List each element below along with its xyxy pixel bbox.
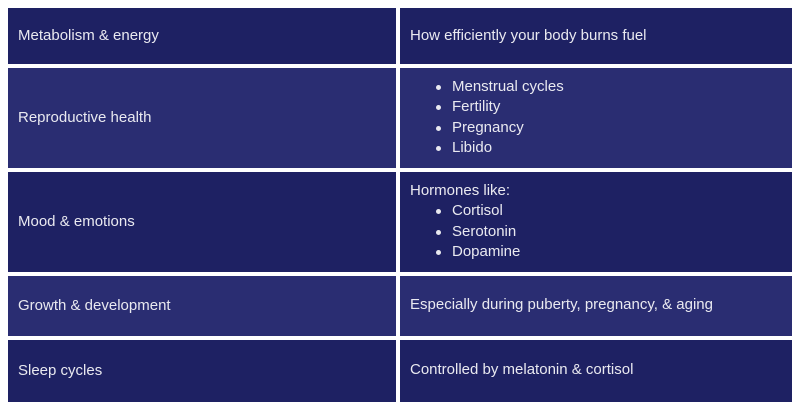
- info-table: Metabolism & energy How efficiently your…: [8, 8, 792, 402]
- row-description-cell: Hormones like: Cortisol Serotonin Dopami…: [400, 172, 792, 276]
- row-category-label: Sleep cycles: [18, 361, 384, 381]
- row-category-cell: Metabolism & energy: [8, 8, 400, 68]
- row-description-cell: How efficiently your body burns fuel: [400, 8, 792, 68]
- row-description-lead: How efficiently your body burns fuel: [410, 26, 780, 46]
- table-row: Mood & emotions Hormones like: Cortisol …: [8, 172, 792, 276]
- table-row: Growth & development Especially during p…: [8, 276, 792, 340]
- row-category-cell: Mood & emotions: [8, 172, 400, 276]
- row-description-cell: Especially during puberty, pregnancy, & …: [400, 276, 792, 340]
- description-bullet-list: Cortisol Serotonin Dopamine: [410, 201, 780, 262]
- row-category-label: Growth & development: [18, 296, 384, 316]
- row-description-lead: Hormones like:: [410, 181, 780, 201]
- row-category-label: Mood & emotions: [18, 212, 384, 232]
- table-row: Sleep cycles Controlled by melatonin & c…: [8, 340, 792, 402]
- row-category-label: Reproductive health: [18, 108, 384, 128]
- table-body: Metabolism & energy How efficiently your…: [8, 8, 792, 402]
- list-item: Menstrual cycles: [436, 77, 780, 97]
- list-item: Dopamine: [436, 242, 780, 262]
- list-item: Cortisol: [436, 201, 780, 221]
- list-item: Fertility: [436, 97, 780, 117]
- table-row: Metabolism & energy How efficiently your…: [8, 8, 792, 68]
- table-container: Metabolism & energy How efficiently your…: [0, 0, 800, 400]
- row-description-cell: Controlled by melatonin & cortisol: [400, 340, 792, 402]
- row-category-cell: Growth & development: [8, 276, 400, 340]
- list-item: Pregnancy: [436, 118, 780, 138]
- list-item: Serotonin: [436, 222, 780, 242]
- row-category-cell: Reproductive health: [8, 68, 400, 172]
- list-item: Libido: [436, 138, 780, 158]
- row-category-cell: Sleep cycles: [8, 340, 400, 402]
- table-row: Reproductive health Menstrual cycles Fer…: [8, 68, 792, 172]
- row-category-label: Metabolism & energy: [18, 26, 384, 46]
- description-bullet-list: Menstrual cycles Fertility Pregnancy Lib…: [410, 77, 780, 159]
- row-description-lead: Especially during puberty, pregnancy, & …: [410, 295, 780, 315]
- row-description-lead: Controlled by melatonin & cortisol: [410, 360, 780, 380]
- row-description-cell: Menstrual cycles Fertility Pregnancy Lib…: [400, 68, 792, 172]
